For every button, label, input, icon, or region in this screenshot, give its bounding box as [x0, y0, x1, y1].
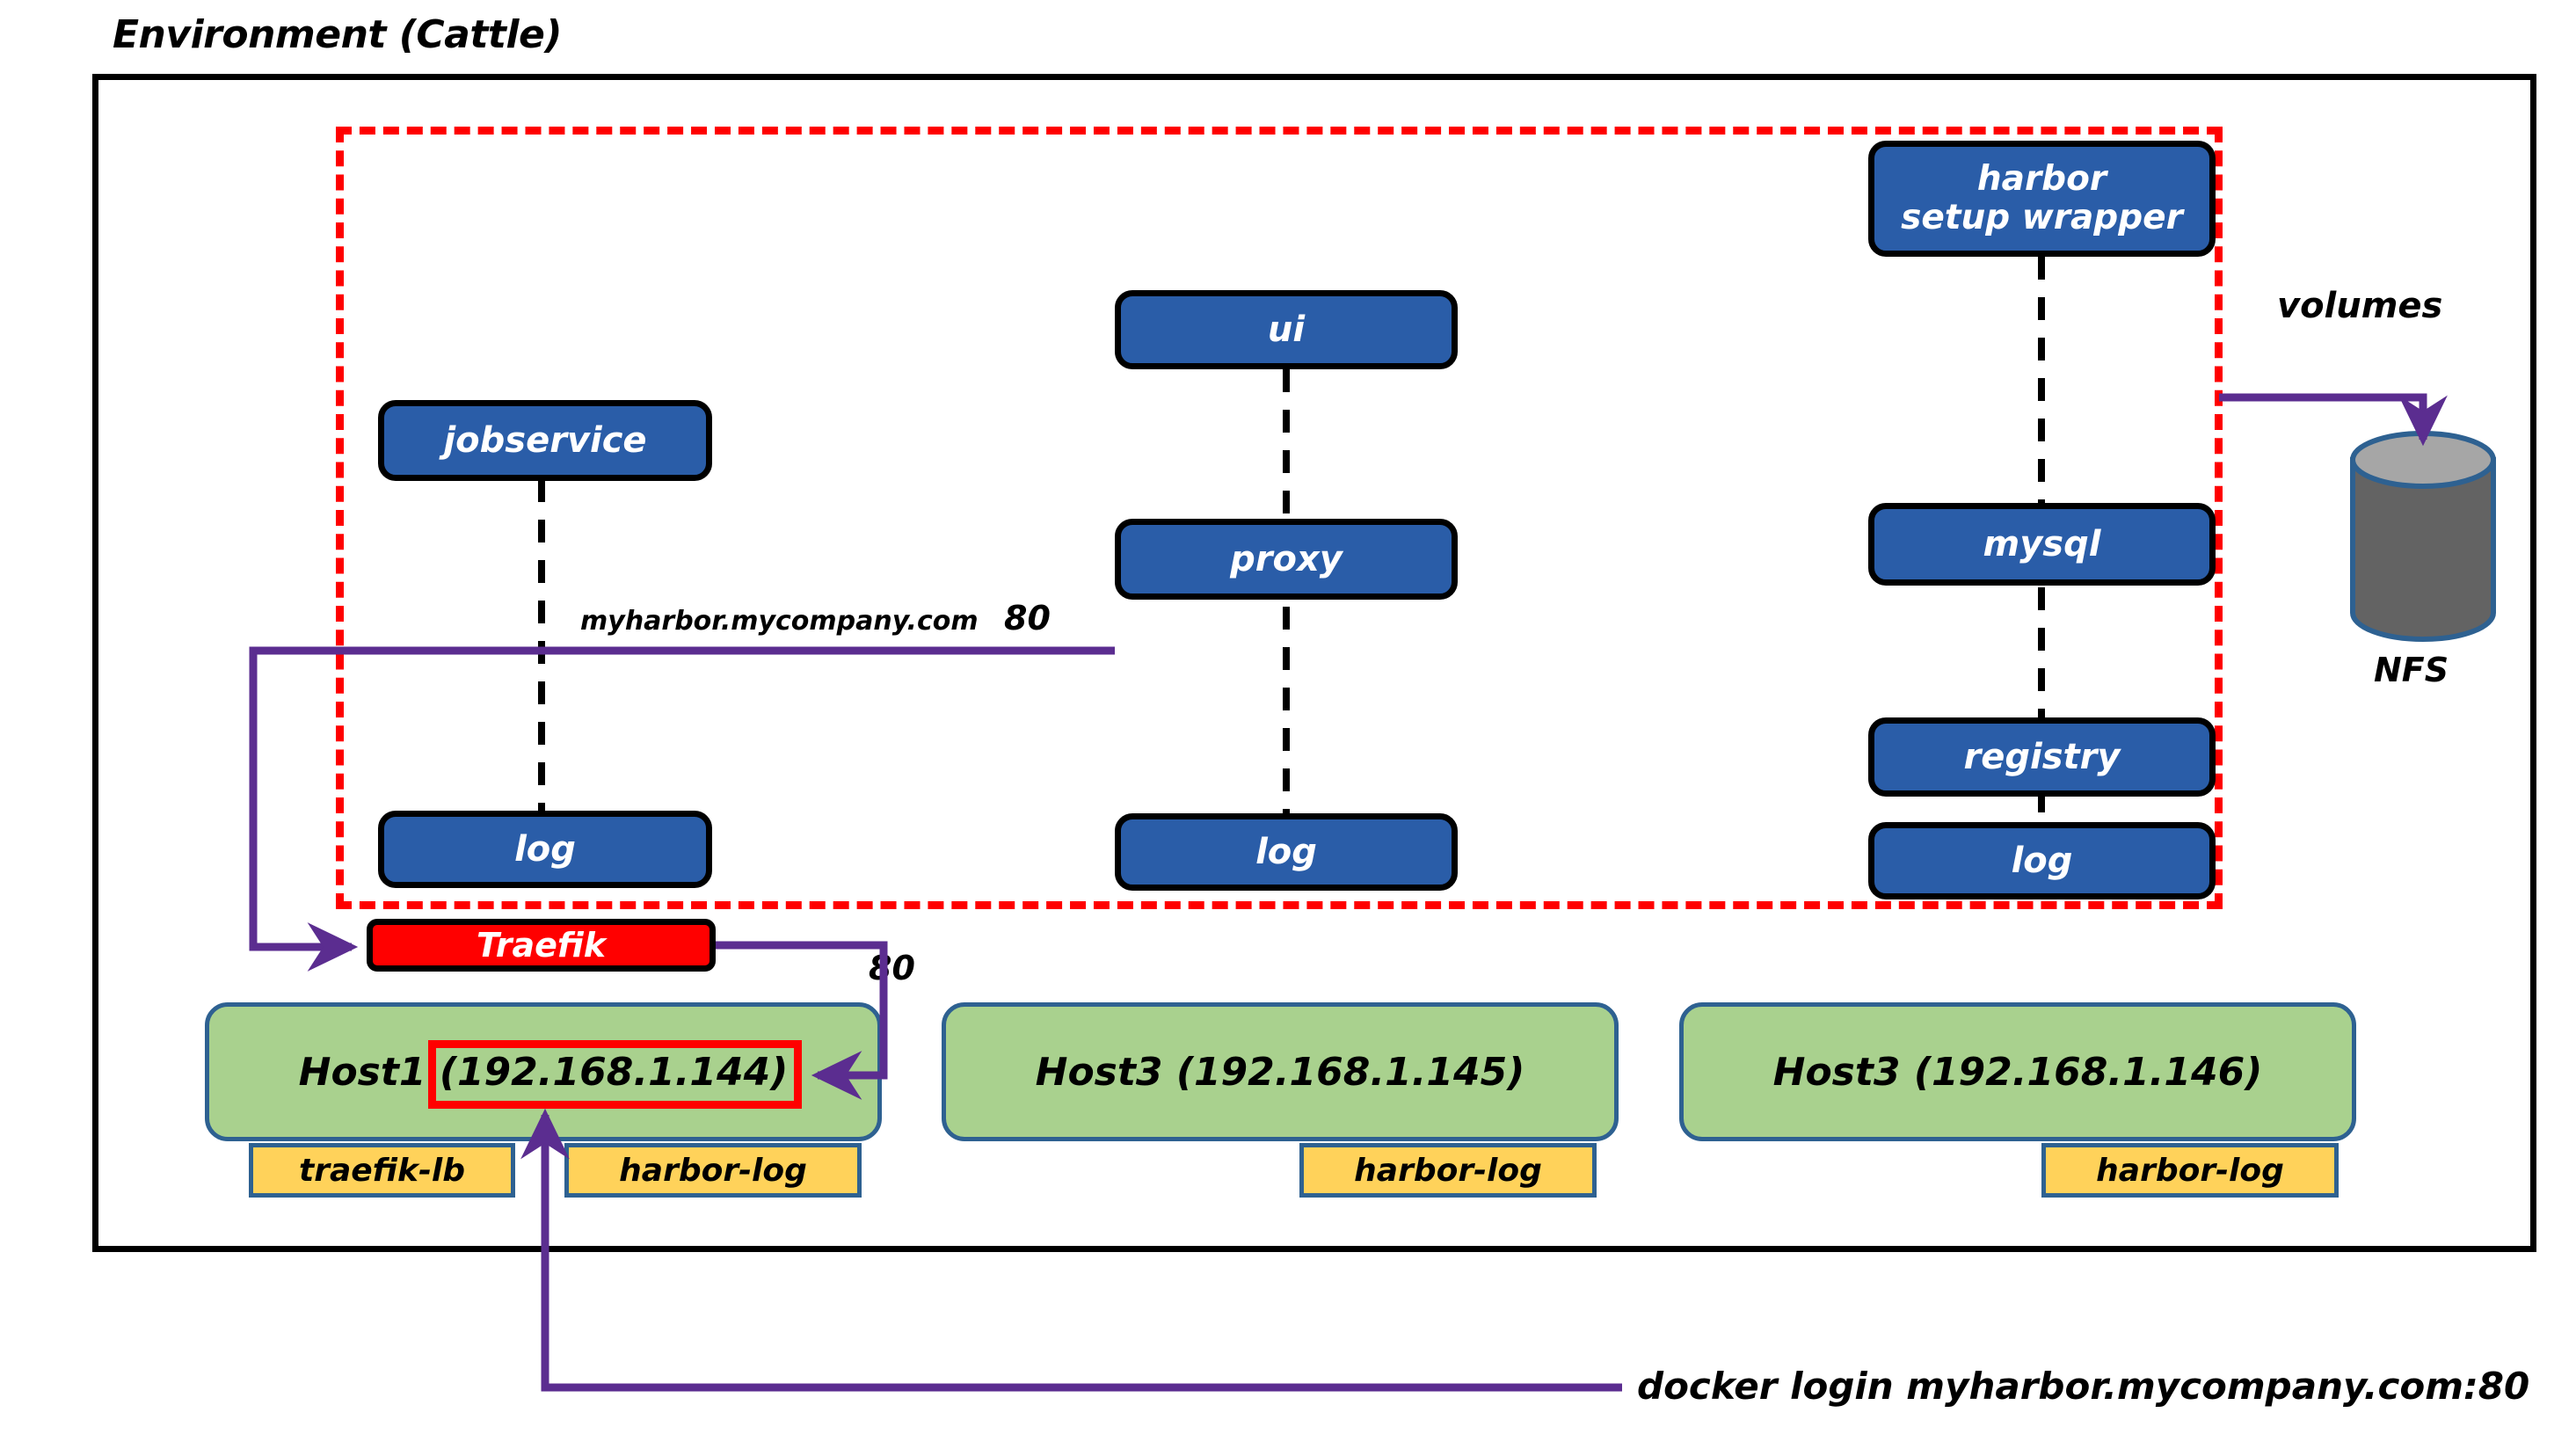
service-box-mysql[interactable]: mysql [1868, 503, 2216, 586]
host-box-host2[interactable]: Host3 (192.168.1.145) [942, 1002, 1619, 1141]
host1-ip-highlight [428, 1040, 802, 1109]
host-label-host2: Host3 (192.168.1.145) [1036, 1050, 1525, 1095]
nfs-label: NFS [2374, 651, 2449, 689]
service-label-log-left: log [514, 830, 576, 870]
service-label-mysql: mysql [1983, 525, 2101, 564]
service-label-jobservice: jobservice [443, 421, 646, 461]
stack-tag-host3-harbor-log[interactable]: harbor-log [2041, 1143, 2339, 1198]
host-label-host3: Host3 (192.168.1.146) [1773, 1050, 2263, 1095]
service-label-harbor-setup-wrapper-line2: setup wrapper [1901, 199, 2183, 237]
stack-tag-label-traefik-lb: traefik-lb [299, 1153, 465, 1189]
diagram-canvas: Environment (Cattle) jobservice log ui p… [0, 0, 2576, 1449]
service-box-log-left[interactable]: log [378, 811, 712, 888]
service-box-harbor-setup-wrapper[interactable]: harbor setup wrapper [1868, 141, 2216, 257]
service-box-registry[interactable]: registry [1868, 717, 2216, 797]
service-label-harbor-setup-wrapper-line1: harbor [1977, 160, 2107, 199]
service-box-ui[interactable]: ui [1115, 290, 1458, 369]
traefik-label: Traefik [477, 926, 606, 965]
hostname-route-label: myharbor.mycompany.com [580, 606, 979, 637]
docker-login-command-label: docker login myharbor.mycompany.com:80 [1637, 1365, 2529, 1408]
stack-tag-host1-harbor-log[interactable]: harbor-log [564, 1143, 862, 1198]
service-label-log-right: log [2012, 841, 2073, 881]
stack-tag-label-host1-harbor-log: harbor-log [619, 1153, 807, 1189]
environment-title: Environment (Cattle) [113, 12, 562, 57]
volumes-link-label: volumes [2277, 286, 2442, 326]
service-box-log-right[interactable]: log [1868, 822, 2216, 899]
stack-tag-label-host3-harbor-log: harbor-log [2096, 1153, 2284, 1189]
service-box-log-center[interactable]: log [1115, 813, 1458, 891]
service-box-proxy[interactable]: proxy [1115, 519, 1458, 600]
service-label-ui: ui [1268, 310, 1305, 350]
port-label-proxy: 80 [1004, 599, 1051, 637]
service-label-registry: registry [1964, 738, 2121, 777]
service-box-jobservice[interactable]: jobservice [378, 400, 712, 481]
stack-tag-host2-harbor-log[interactable]: harbor-log [1299, 1143, 1597, 1198]
host-box-host3[interactable]: Host3 (192.168.1.146) [1679, 1002, 2356, 1141]
stack-tag-label-host2-harbor-log: harbor-log [1354, 1153, 1542, 1189]
service-label-log-center: log [1255, 833, 1317, 872]
traefik-load-balancer-box[interactable]: Traefik [367, 919, 716, 972]
stack-tag-host1-traefik-lb[interactable]: traefik-lb [249, 1143, 515, 1198]
port-label-traefik: 80 [869, 949, 915, 987]
service-label-proxy: proxy [1230, 540, 1343, 579]
